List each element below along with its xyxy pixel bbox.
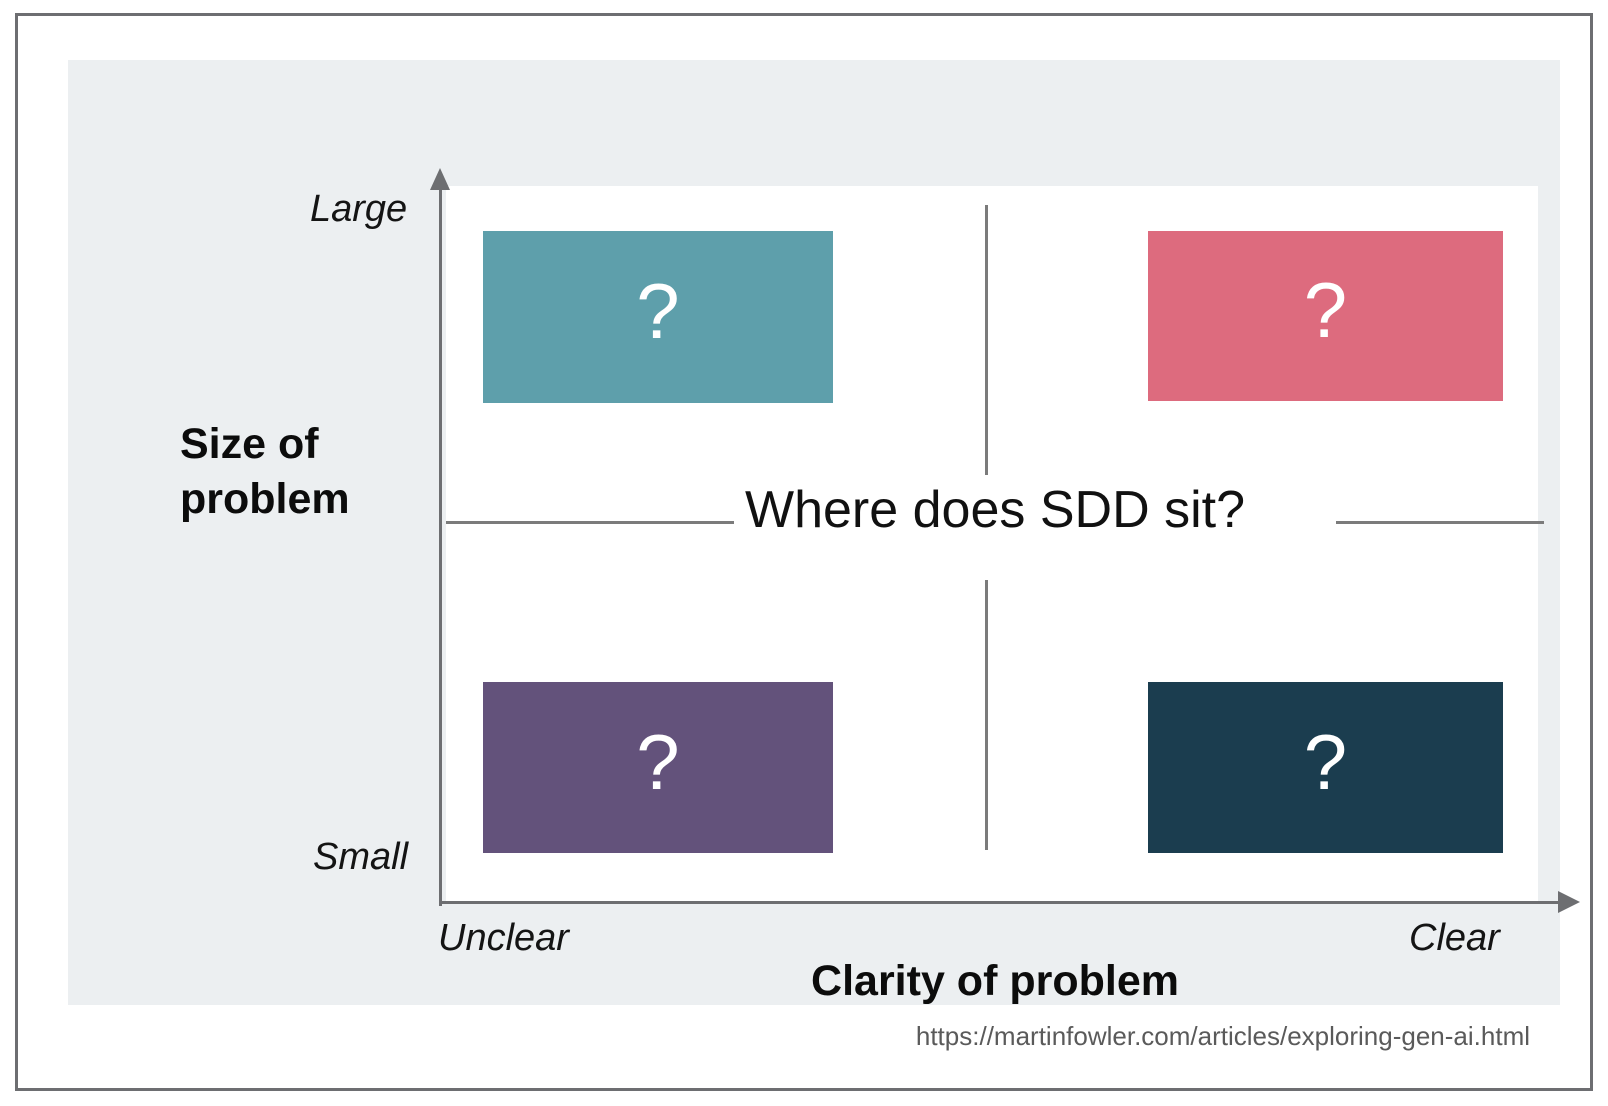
- question-mark-label: ?: [636, 723, 679, 801]
- divider-vertical-top: [985, 205, 988, 475]
- question-mark-label: ?: [1304, 723, 1347, 801]
- divider-vertical-bottom: [985, 580, 988, 850]
- x-axis-arrow-icon: [1558, 891, 1580, 913]
- y-axis-high-tick-label: Large: [310, 188, 407, 231]
- y-axis-title: Size of problem: [180, 417, 430, 527]
- x-axis-line: [439, 901, 1563, 904]
- y-axis-low-tick-label: Small: [313, 836, 408, 879]
- question-mark-label: ?: [636, 272, 679, 350]
- question-mark-label: ?: [1304, 271, 1347, 349]
- diagram-panel: ? ? ? ? Where does SDD sit? Large Small …: [68, 60, 1560, 1005]
- y-axis-arrow-icon: [430, 168, 450, 190]
- quadrant-box-large-unclear[interactable]: ?: [483, 231, 833, 403]
- quadrant-box-small-unclear[interactable]: ?: [483, 682, 833, 853]
- quadrant-box-small-clear[interactable]: ?: [1148, 682, 1503, 853]
- y-axis-title-line2: problem: [180, 472, 430, 527]
- outer-frame: ? ? ? ? Where does SDD sit? Large Small …: [15, 13, 1593, 1091]
- y-axis-line: [439, 180, 442, 906]
- x-axis-title: Clarity of problem: [446, 954, 1544, 1009]
- diagram-canvas: ? ? ? ? Where does SDD sit? Large Small …: [0, 0, 1608, 1106]
- quadrant-box-large-clear[interactable]: ?: [1148, 231, 1503, 401]
- center-question-label: Where does SDD sit?: [446, 480, 1544, 540]
- source-url-label: https://martinfowler.com/articles/explor…: [916, 1021, 1530, 1052]
- y-axis-title-line1: Size of: [180, 417, 430, 472]
